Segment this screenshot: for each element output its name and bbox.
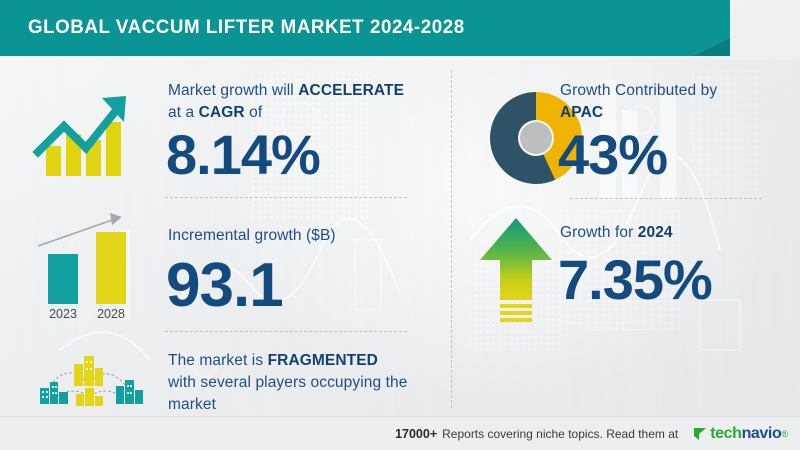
up-arrow-gradient-icon: [478, 216, 554, 328]
logo-text-navio: navio: [742, 425, 782, 443]
infographic-canvas: GLOBAL VACCUM LIFTER MARKET 2024-2028 Ma…: [0, 0, 800, 450]
bar-label-2028: 2028: [97, 307, 125, 321]
divider-left-upper: [165, 197, 407, 198]
cagr-line2-normal: at a: [168, 104, 199, 121]
city-buildings-cluster-icon: [28, 352, 148, 414]
technavio-flag-icon: [692, 425, 708, 442]
fragmented-part2: with several players occupying the: [168, 374, 407, 391]
page-title: GLOBAL VACCUM LIFTER MARKET 2024-2028: [28, 16, 465, 39]
growth-arrow-bars-icon: [26, 82, 138, 182]
cagr-line1-bold: ACCELERATE: [298, 82, 404, 99]
apac-value: 43%: [558, 127, 667, 183]
logo-registered-dot: ®: [781, 429, 788, 439]
technavio-logo[interactable]: technavio®: [692, 425, 788, 443]
footer-report-count: 17000+: [395, 427, 437, 441]
cagr-line1-normal: Market growth will: [168, 82, 298, 99]
divider-right: [570, 198, 762, 199]
footer-text: Reports covering niche topics. Read them…: [442, 427, 678, 441]
vertical-divider: [451, 70, 452, 408]
growth2024-value: 7.35%: [558, 252, 712, 308]
fragmented-part3: market: [168, 396, 216, 413]
cagr-line2-tail: of: [245, 104, 263, 121]
apac-label-line2: APAC: [560, 104, 603, 121]
fragmented-part1: The market is: [168, 352, 268, 369]
growth2024-label-bold: 2024: [638, 224, 673, 241]
fragmented-bold: FRAGMENTED: [268, 352, 378, 369]
apac-label-line1: Growth Contributed by: [560, 82, 717, 99]
incremental-value: 93.1: [166, 255, 283, 317]
bar-label-2023: 2023: [49, 307, 77, 321]
logo-text-tech: tech: [710, 425, 741, 443]
cagr-line2-bold: CAGR: [199, 104, 245, 121]
incremental-label: Incremental growth ($B): [168, 225, 430, 247]
fragmented-text: The market is FRAGMENTED with several pl…: [168, 350, 440, 416]
cagr-value: 8.14%: [166, 127, 320, 183]
two-bar-chart-icon: 2023 2028: [22, 212, 140, 322]
cagr-label: Market growth will ACCELERATE at a CAGR …: [168, 80, 430, 124]
apac-label: Growth Contributed by APAC: [560, 80, 790, 124]
growth2024-label: Growth for 2024: [560, 222, 790, 244]
footer-bar: 17000+ Reports covering niche topics. Re…: [0, 416, 800, 450]
divider-left-lower: [165, 331, 407, 332]
growth2024-label-normal: Growth for: [560, 224, 638, 241]
